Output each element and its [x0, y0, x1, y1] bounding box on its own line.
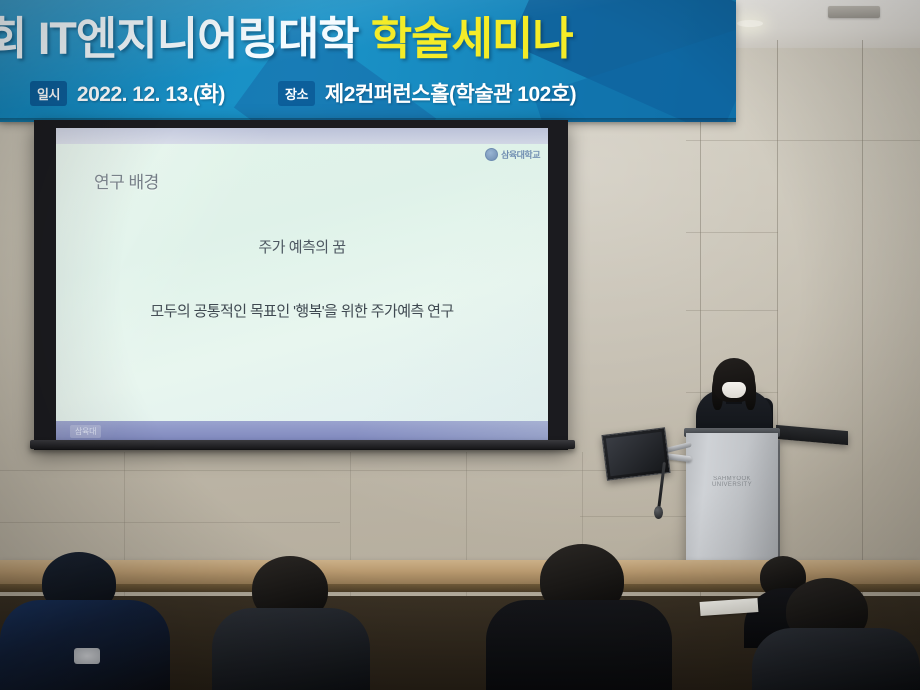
banner-place-row: 장소 제2컨퍼런스홀(학술관 102호): [278, 78, 576, 108]
banner-place-value: 제2컨퍼런스홀(학술관 102호): [325, 78, 576, 108]
podium-monitor: [601, 427, 670, 480]
slide-bottom-band: [56, 421, 548, 440]
audience-body: [752, 628, 920, 690]
banner-place-label: 장소: [278, 81, 315, 106]
banner-date-row: 일시 2022. 12. 13.(화): [30, 78, 225, 108]
projection-screen: 삼육대학교 연구 배경 주가 예측의 꿈 모두의 공통적인 목표인 '행복'을 …: [34, 120, 568, 450]
jacket-logo-icon: [74, 648, 100, 664]
slide-heading: 연구 배경: [94, 168, 159, 193]
university-logo: 삼육대학교: [485, 148, 540, 161]
screen-bottom-bar: [30, 440, 575, 449]
audience-body: [212, 608, 370, 690]
wall-seam: [686, 232, 778, 233]
wall-seam: [580, 516, 690, 517]
wall-seam: [0, 522, 340, 523]
lecture-hall-photo: 회 IT엔지니어링대학 학술세미나 일시 2022. 12. 13.(화) 장소…: [0, 0, 920, 690]
banner-title-white: 회 IT엔지니어링대학: [0, 2, 359, 67]
banner-title-yellow: 학술세미나: [371, 2, 573, 67]
university-logo-text: 삼육대학교: [501, 148, 540, 161]
slide-line-1: 주가 예측의 꿈: [56, 236, 548, 257]
banner-date-value: 2022. 12. 13.(화): [77, 78, 225, 108]
wall-seam: [862, 40, 863, 600]
presenter-face-mask: [722, 382, 746, 398]
wall-seam: [686, 140, 920, 141]
university-emblem-icon: [485, 148, 498, 161]
banner-title: 회 IT엔지니어링대학 학술세미나: [0, 2, 736, 66]
slide-line-2: 모두의 공통적인 목표인 '행복'을 위한 주가예측 연구: [56, 300, 548, 321]
audience-body: [0, 600, 170, 690]
seminar-banner: 회 IT엔지니어링대학 학술세미나 일시 2022. 12. 13.(화) 장소…: [0, 0, 736, 122]
audience-body: [486, 600, 672, 690]
wall-seam: [0, 470, 690, 471]
ceiling-downlight-icon: [737, 20, 763, 27]
monitor-screen: [606, 432, 666, 477]
podium: [686, 433, 778, 565]
ceiling-vent-icon: [828, 6, 880, 18]
banner-date-label: 일시: [30, 81, 67, 106]
slide-top-band: [56, 128, 548, 144]
presentation-slide: 삼육대학교 연구 배경 주가 예측의 꿈 모두의 공통적인 목표인 '행복'을 …: [56, 128, 548, 440]
podium-logo-text: SAHMYOOK UNIVERSITY: [696, 476, 768, 488]
slide-watermark: 삼육대: [70, 425, 101, 438]
wall-seam: [686, 310, 778, 311]
microphone-head-icon: [654, 506, 663, 519]
